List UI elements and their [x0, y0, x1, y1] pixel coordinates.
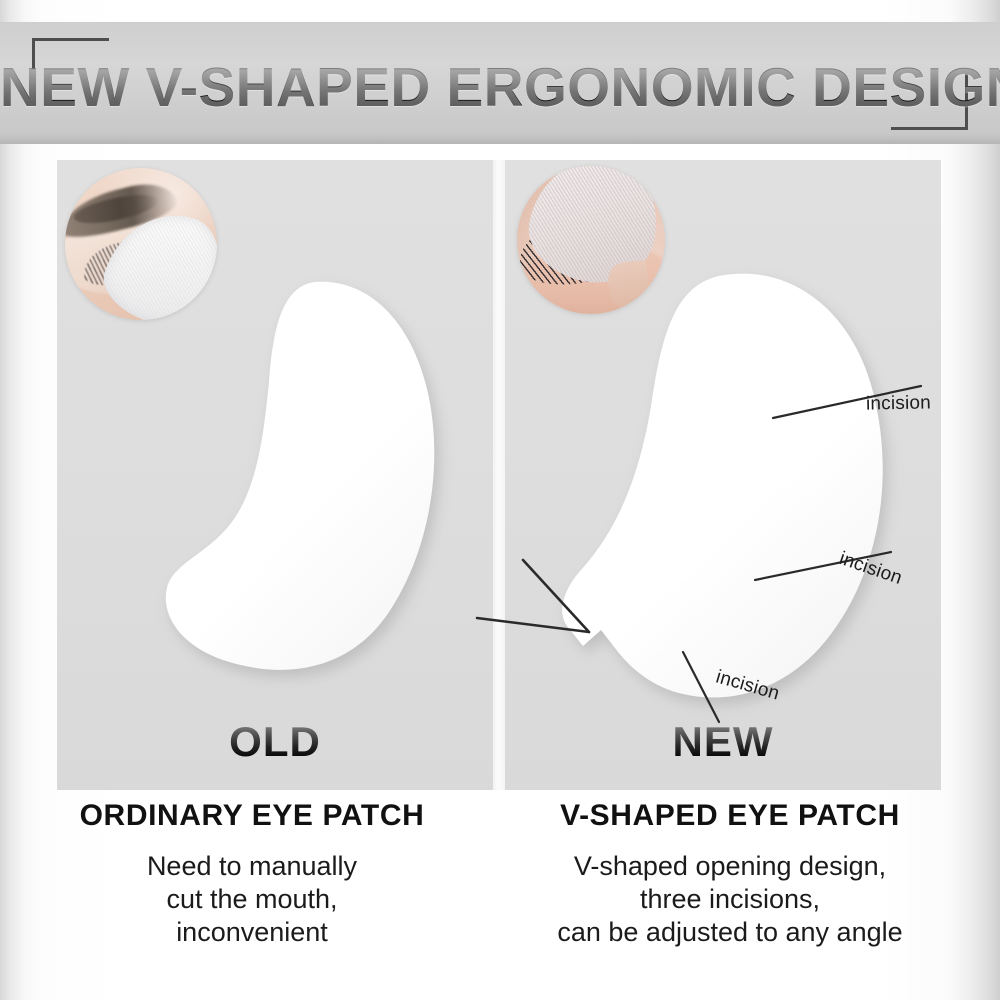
panel-old: OLD [57, 160, 493, 790]
caption-new-line-1: V-shaped opening design, [500, 850, 960, 883]
caption-old-line-1: Need to manually [22, 850, 482, 883]
caption-old-description: Need to manually cut the mouth, inconven… [22, 850, 482, 949]
page-title: NEW V-SHAPED ERGONOMIC DESIGN [0, 56, 1000, 118]
panel-old-word: OLD [57, 718, 493, 766]
incision-label-1: incision [866, 392, 931, 415]
caption-old-line-2: cut the mouth, [22, 883, 482, 916]
caption-old: ORDINARY EYE PATCH Need to manually cut … [22, 798, 482, 949]
caption-new-line-3: can be adjusted to any angle [500, 916, 960, 949]
caption-new: V-SHAPED EYE PATCH V-shaped opening desi… [500, 798, 960, 949]
title-banner: NEW V-SHAPED ERGONOMIC DESIGN [0, 22, 1000, 144]
old-patch-illustration [57, 160, 493, 790]
caption-new-description: V-shaped opening design, three incisions… [500, 850, 960, 949]
caption-old-heading: ORDINARY EYE PATCH [22, 798, 482, 834]
product-infographic-poster: NEW V-SHAPED ERGONOMIC DESIGN [0, 0, 1000, 1000]
caption-new-line-2: three incisions, [500, 883, 960, 916]
caption-row: ORDINARY EYE PATCH Need to manually cut … [0, 798, 1000, 998]
panel-divider [493, 160, 505, 790]
caption-old-line-3: inconvenient [22, 916, 482, 949]
comparison-panels: OLD [57, 160, 941, 790]
panel-new: NEW [505, 160, 941, 790]
new-patch-illustration [505, 160, 941, 790]
caption-new-heading: V-SHAPED EYE PATCH [500, 798, 960, 834]
panel-new-word: NEW [505, 718, 941, 766]
